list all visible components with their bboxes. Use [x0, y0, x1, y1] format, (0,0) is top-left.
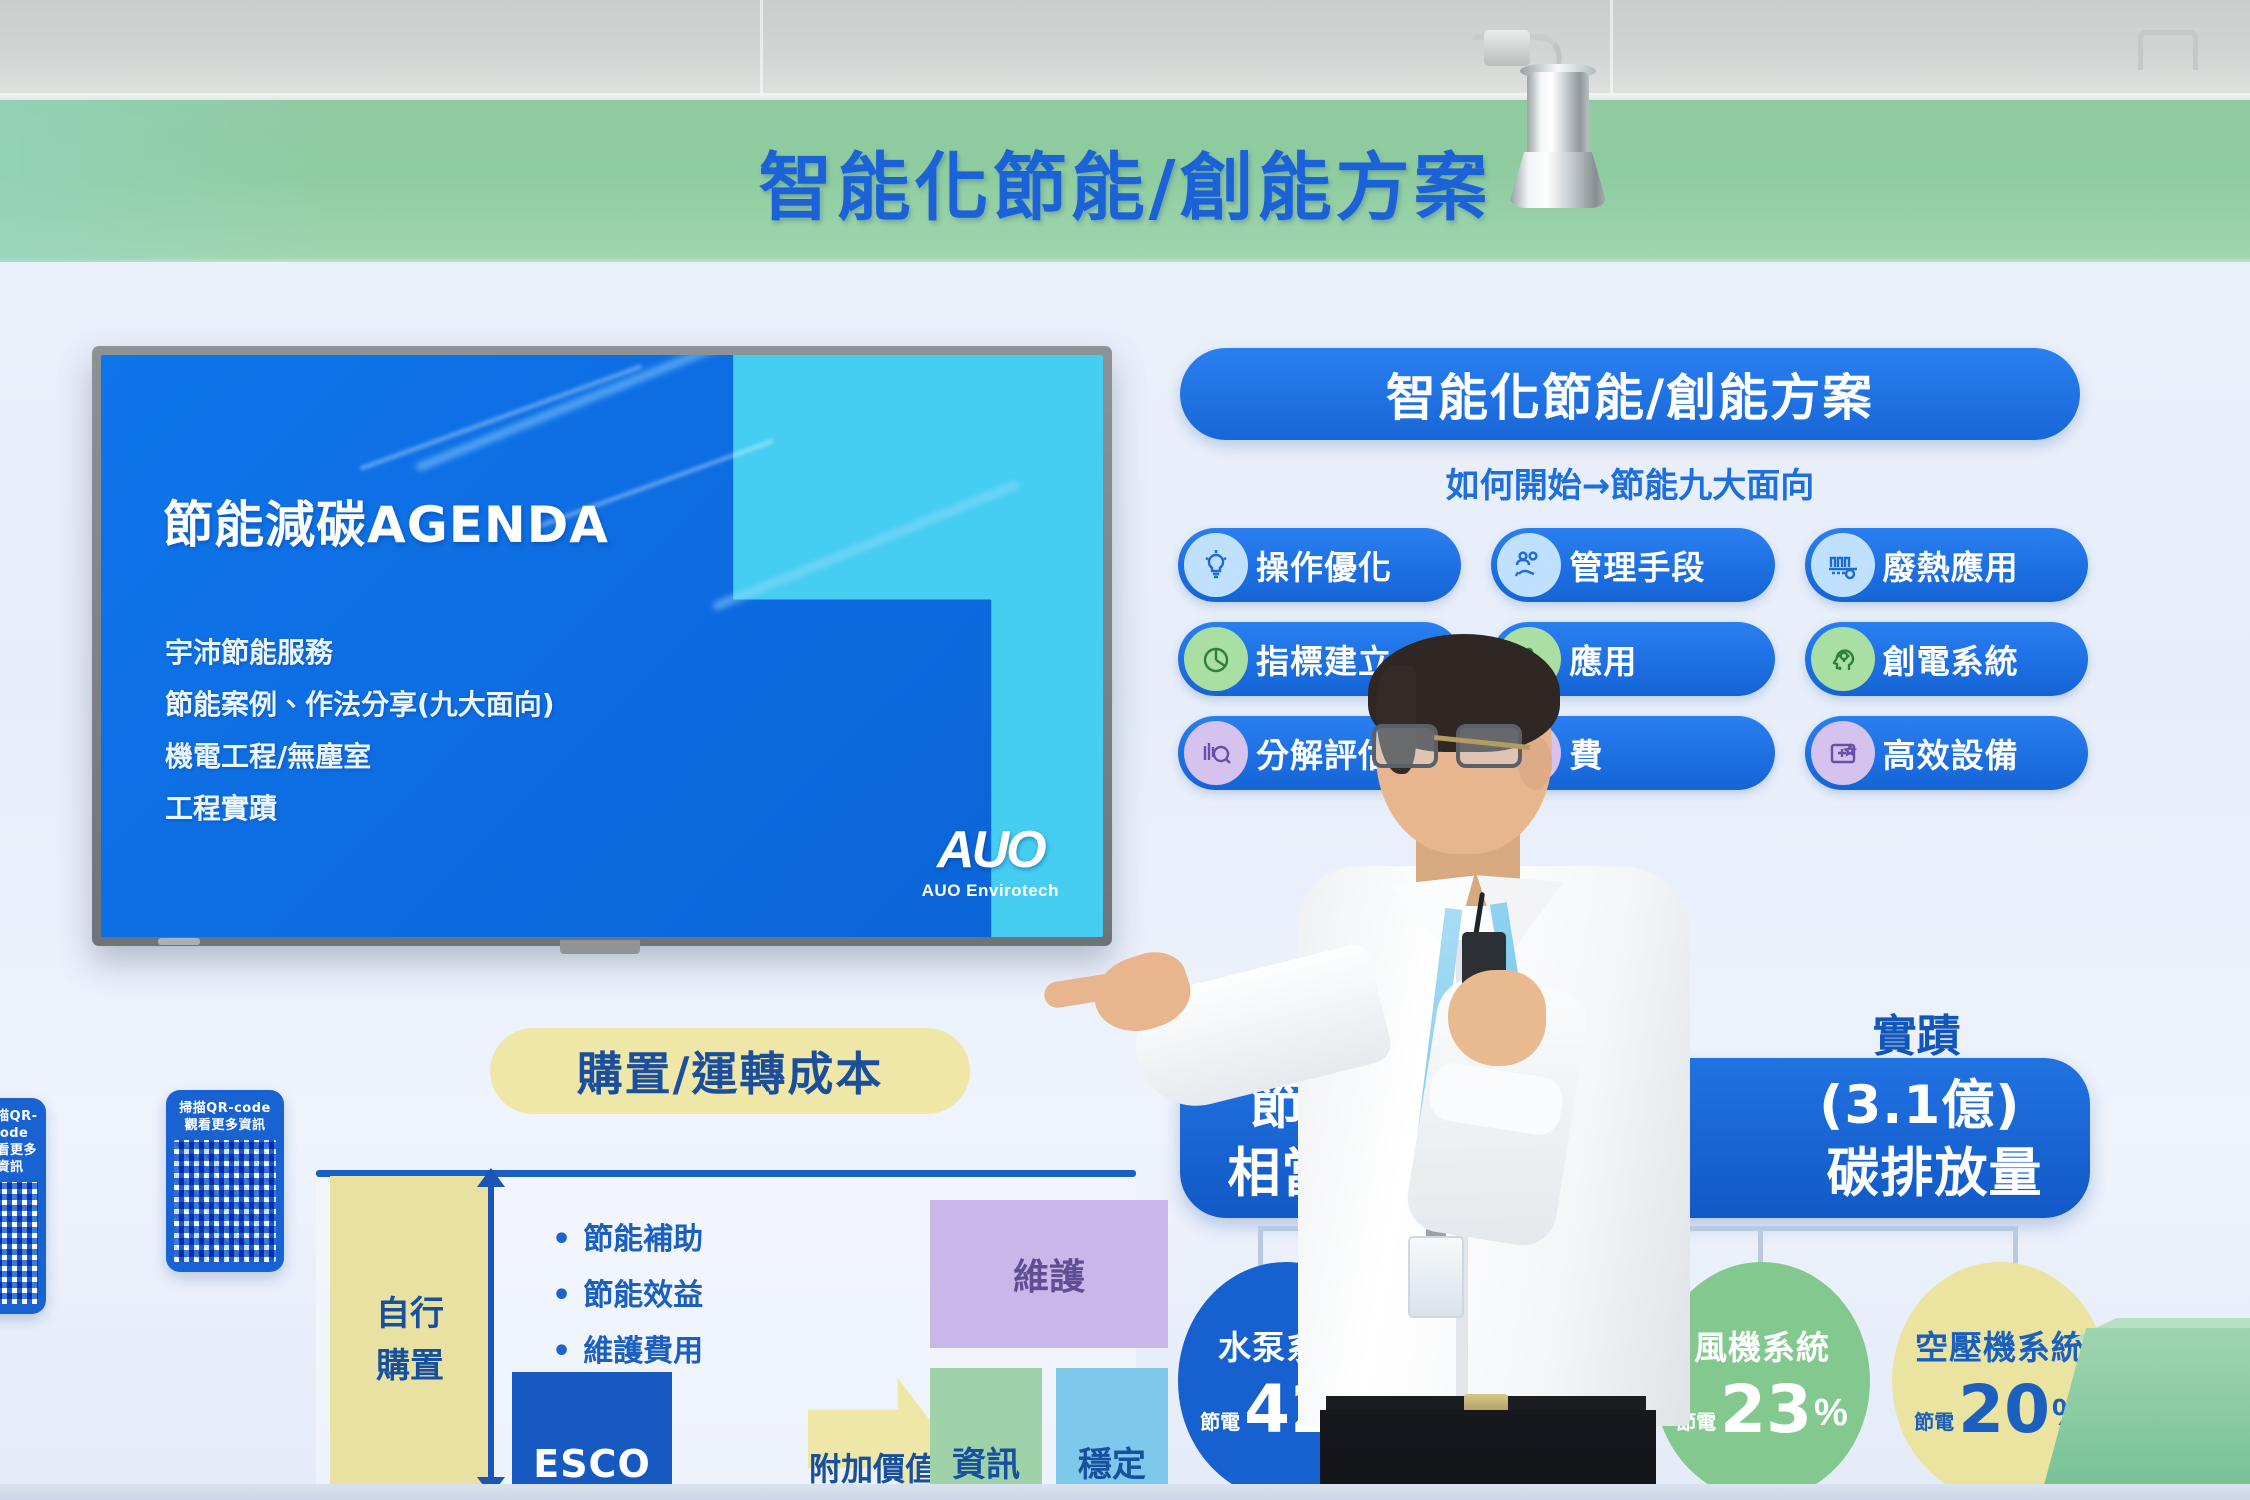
slide-agenda-item: 宇沛節能服務: [165, 627, 555, 679]
cost-panel-title: 購置/運轉成本: [577, 1038, 884, 1104]
brain-head-icon: [1811, 627, 1875, 691]
magnifier-data-icon: [1184, 721, 1248, 785]
glasses-lens: [1372, 724, 1438, 768]
chart-bar-esco: ESCO: [512, 1372, 672, 1500]
stat-caption: 節電: [1914, 1412, 1954, 1433]
aspect-chip-label: 創電系統: [1883, 635, 2019, 683]
auo-wordmark: AUO: [922, 820, 1059, 880]
tv-brand-plate: [158, 938, 200, 945]
achievement-line1-right: (3.1億): [1819, 1075, 2020, 1136]
presentation-display: 節能減碳AGENDA 宇沛節能服務 節能案例、作法分享(九大面向) 機電工程/無…: [92, 346, 1112, 946]
aspect-chip-label: 高效設備: [1883, 729, 2019, 777]
ceiling-hanger-icon: [2138, 30, 2198, 70]
slide-agenda-item: 工程實蹟: [165, 783, 555, 835]
presenter-glasses: [1372, 724, 1530, 770]
exhibition-booth-scene: 智能化節能/創能方案 節能減碳AGENDA 宇沛節能服務 節能案例、作法分享(九…: [0, 0, 2250, 1500]
aspect-chip-label: 操作優化: [1256, 541, 1392, 589]
aspect-chip-power-generation[interactable]: 創電系統: [1805, 622, 2088, 696]
chart-bar-label: 維護: [930, 1248, 1168, 1300]
achievement-heading-tail: 實蹟: [1873, 1011, 1961, 1062]
poster-headline-text: 智能化節能/創能方案: [1386, 358, 1874, 430]
pie-chart-icon: [1184, 627, 1248, 691]
aspect-chip-operation-optimization[interactable]: 操作優化: [1178, 528, 1461, 602]
qr-card-line1: 掃描QR-code: [0, 1108, 38, 1142]
chart-bar-self-purchase: 自行購置: [330, 1176, 490, 1500]
slide-light-streak: [359, 364, 643, 471]
tv-screen: 節能減碳AGENDA 宇沛節能服務 節能案例、作法分享(九大面向) 機電工程/無…: [101, 355, 1103, 937]
cost-panel-title-pill: 購置/運轉成本: [490, 1028, 970, 1114]
slide-agenda-item: 機電工程/無塵室: [165, 731, 555, 783]
auo-sub-wordmark: AUO Envirotech: [922, 881, 1059, 901]
lightbulb-icon: [1184, 533, 1248, 597]
ceiling: [0, 0, 2250, 98]
stat-name: 風機系統: [1694, 1321, 1830, 1369]
slide-agenda-list: 宇沛節能服務 節能案例、作法分享(九大面向) 機電工程/無塵室 工程實蹟: [165, 627, 555, 835]
savings-gap-arrow: [488, 1184, 494, 1480]
poster-subhead: 如何開始→節能九大面向: [1180, 458, 2080, 507]
aspect-chip-high-efficiency-equipment[interactable]: 高效設備: [1805, 716, 2088, 790]
chart-bar-label: 穩定: [1056, 1437, 1168, 1486]
tv-stand: [560, 940, 640, 954]
track-spotlight-icon: [1527, 72, 1589, 160]
slide-title: 節能減碳AGENDA: [163, 485, 609, 557]
stat-caption: 節電: [1200, 1412, 1240, 1433]
presenter-id-badge: [1408, 1236, 1464, 1318]
chart-bar-label: 自行購置: [330, 1288, 490, 1392]
presenter: [1280, 640, 1700, 1500]
slide-agenda-item: 節能案例、作法分享(九大面向): [165, 679, 555, 731]
ceiling-panel-seam: [1610, 0, 1613, 98]
equipment-star-icon: [1811, 721, 1875, 785]
cost-bullet-item: 節能補助: [552, 1212, 703, 1268]
stat-unit: %: [1814, 1392, 1848, 1435]
qr-card-main[interactable]: 掃描QR-code 觀看更多資訊: [166, 1090, 284, 1272]
qr-card-left[interactable]: 掃描QR-code 觀看更多資訊: [0, 1098, 46, 1314]
qr-code-image: [0, 1182, 38, 1304]
cost-comparison-chart: 自行購置 節能補助 節能效益 維護費用 ESCO 附加價值 資訊 穩定 維護: [316, 1176, 1136, 1500]
ceiling-panel-seam: [760, 0, 763, 98]
floor-edge: [0, 1484, 2250, 1500]
cost-bullet-item: 節能效益: [552, 1268, 703, 1324]
chart-bar-maintenance: 維護: [930, 1200, 1168, 1348]
aspect-chip-label: 管理手段: [1569, 541, 1705, 589]
stat-value: 20: [1958, 1379, 2050, 1441]
chart-bar-label: 資訊: [930, 1437, 1042, 1486]
achievement-line2-right: 碳排放量: [1826, 1143, 2042, 1204]
stat-value: 23: [1720, 1379, 1812, 1441]
poster-headline-pill: 智能化節能/創能方案: [1180, 348, 2080, 440]
aspect-chip-waste-heat[interactable]: 廢熱應用: [1805, 528, 2088, 602]
aspect-row: 操作優化 管理手段 廢熱應用: [1178, 528, 2088, 602]
aspect-chip-management[interactable]: 管理手段: [1491, 528, 1774, 602]
stat-name: 空壓機系統: [1915, 1321, 2085, 1369]
qr-code-image: [174, 1140, 276, 1262]
cost-bullet-list: 節能補助 節能效益 維護費用: [552, 1212, 703, 1380]
qr-card-line2: 觀看更多資訊: [174, 1117, 276, 1134]
aspect-chip-label: 廢熱應用: [1883, 541, 2019, 589]
booth-banner-title: 智能化節能/創能方案: [0, 128, 2250, 235]
track-spotlight-shade: [1508, 152, 1608, 208]
presenter-right-hand: [1448, 970, 1546, 1066]
chart-bar-label: ESCO: [512, 1442, 672, 1486]
track-spotlight-bracket: [1484, 30, 1530, 66]
people-hand-icon: [1497, 533, 1561, 597]
qr-card-line1: 掃描QR-code: [174, 1100, 276, 1117]
chart-bar-stability: 穩定: [1056, 1368, 1168, 1500]
auo-logo: AUO AUO Envirotech: [922, 820, 1059, 901]
qr-card-line2: 觀看更多資訊: [0, 1142, 38, 1176]
chart-bar-information: 資訊: [930, 1368, 1042, 1500]
factory-gear-icon: [1811, 533, 1875, 597]
